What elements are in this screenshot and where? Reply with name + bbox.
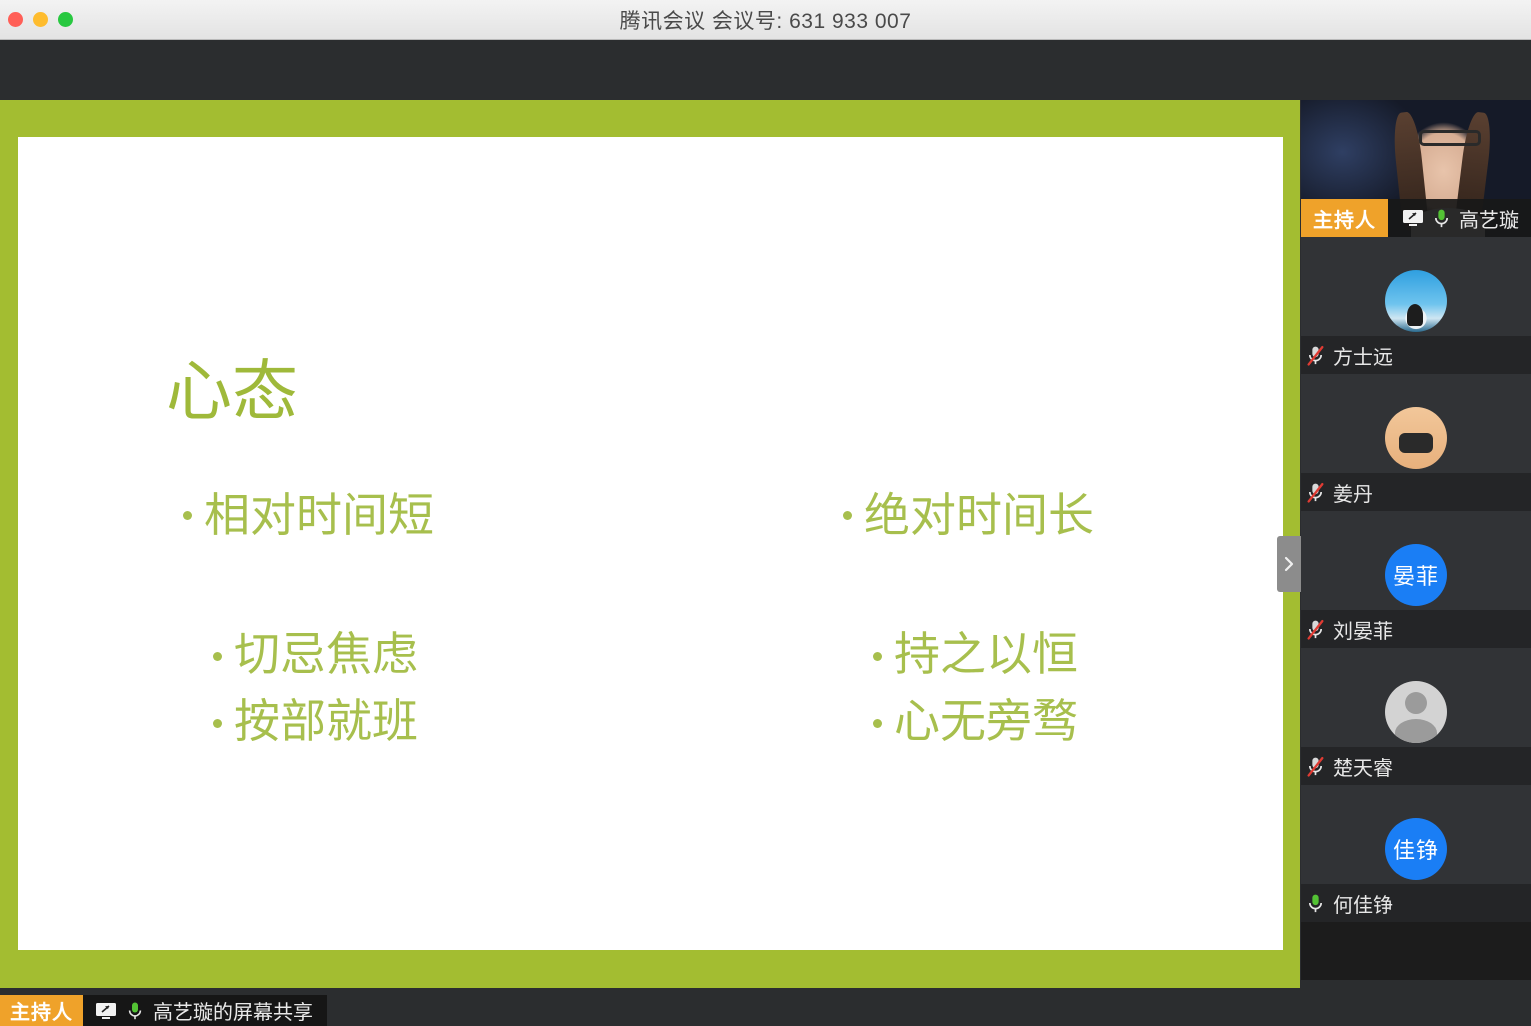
bullet-item: 绝对时间长 — [843, 489, 1363, 542]
bullet-dot-icon — [873, 719, 882, 728]
bullet-item: 切忌焦虑 — [213, 628, 703, 681]
chevron-right-icon — [1283, 554, 1295, 574]
avatar: 佳铮 — [1385, 818, 1447, 880]
avatar — [1385, 681, 1447, 743]
bullet-dot-icon — [213, 719, 222, 728]
bullet-text: 绝对时间长 — [864, 489, 1094, 542]
microphone-muted-icon — [1307, 482, 1324, 503]
minimize-icon[interactable] — [33, 12, 48, 27]
presentation-slide: 心态 相对时间短 切忌焦虑 按部就班 — [18, 137, 1283, 950]
slide-subbullets-right: 持之以恒 心无旁骛 — [873, 628, 1363, 748]
bullet-item: 心无旁骛 — [873, 695, 1363, 748]
microphone-muted-icon — [1307, 345, 1324, 366]
participant-tile[interactable]: 佳铮 何佳铮 — [1301, 785, 1531, 922]
bullet-item: 相对时间短 — [183, 489, 703, 542]
participant-tile[interactable]: 晏菲 刘晏菲 — [1301, 511, 1531, 648]
participant-tile[interactable]: 方士远 — [1301, 237, 1531, 374]
participant-label-bar: 主持人 高艺璇 — [1301, 199, 1531, 237]
bullet-dot-icon — [843, 511, 852, 520]
traffic-lights — [8, 12, 73, 27]
bullet-dot-icon — [873, 652, 882, 661]
share-text: 高艺璇的屏幕共享 — [153, 996, 313, 1025]
slide-column-left: 相对时间短 切忌焦虑 按部就班 — [183, 489, 703, 762]
maximize-icon[interactable] — [58, 12, 73, 27]
window-title-bar: 腾讯会议 会议号: 631 933 007 — [0, 0, 1531, 40]
share-host-badge: 主持人 — [0, 995, 83, 1026]
bullet-dot-icon — [183, 511, 192, 520]
bullet-text: 持之以恒 — [894, 628, 1078, 681]
participant-name: 何佳铮 — [1333, 889, 1393, 918]
screen-share-icon — [1402, 209, 1424, 227]
participant-tile[interactable]: 主持人 高艺璇 — [1301, 100, 1531, 237]
bullet-item: 持之以恒 — [873, 628, 1363, 681]
screen-share-status-bar: 主持人 高艺璇的屏幕共享 — [0, 995, 327, 1026]
host-badge: 主持人 — [1301, 199, 1388, 237]
bullet-text: 切忌焦虑 — [234, 628, 418, 681]
bullet-item: 按部就班 — [213, 695, 703, 748]
microphone-muted-icon — [1307, 619, 1324, 640]
participant-name: 楚天睿 — [1333, 752, 1393, 781]
participant-label-bar: 刘晏菲 — [1301, 610, 1531, 648]
window-title: 腾讯会议 会议号: 631 933 007 — [0, 5, 1531, 35]
microphone-icon — [127, 1001, 143, 1021]
participant-name: 方士远 — [1333, 341, 1393, 370]
microphone-muted-icon — [1307, 756, 1324, 777]
shared-screen-stage: 心态 相对时间短 切忌焦虑 按部就班 — [0, 100, 1300, 988]
participants-rail[interactable]: 主持人 高艺璇 — [1301, 100, 1531, 980]
avatar: 晏菲 — [1385, 544, 1447, 606]
participant-label-bar: 楚天睿 — [1301, 747, 1531, 785]
avatar — [1385, 407, 1447, 469]
slide-column-right: 绝对时间长 持之以恒 心无旁骛 — [843, 489, 1363, 762]
bullet-dot-icon — [213, 652, 222, 661]
slide-subbullets-left: 切忌焦虑 按部就班 — [213, 628, 703, 748]
participant-name: 刘晏菲 — [1333, 615, 1393, 644]
participant-tile[interactable]: 姜丹 — [1301, 374, 1531, 511]
avatar — [1385, 270, 1447, 332]
collapse-participants-panel-button[interactable] — [1277, 536, 1301, 592]
participant-label-bar: 方士远 — [1301, 336, 1531, 374]
share-info: 高艺璇的屏幕共享 — [83, 995, 327, 1026]
participant-name: 姜丹 — [1333, 478, 1373, 507]
bullet-text: 心无旁骛 — [894, 695, 1078, 748]
slide-title: 心态 — [166, 359, 298, 425]
bullet-text: 按部就班 — [234, 695, 418, 748]
participant-name: 高艺璇 — [1459, 204, 1519, 233]
participant-label-bar: 姜丹 — [1301, 473, 1531, 511]
participant-tile[interactable]: 楚天睿 — [1301, 648, 1531, 785]
participant-label-bar: 何佳铮 — [1301, 884, 1531, 922]
meeting-window: 心态 相对时间短 切忌焦虑 按部就班 — [0, 40, 1531, 1026]
close-icon[interactable] — [8, 12, 23, 27]
microphone-unmuted-icon — [1433, 208, 1450, 229]
screen-share-icon — [95, 1002, 117, 1020]
bullet-text: 相对时间短 — [204, 489, 434, 542]
microphone-unmuted-icon — [1307, 893, 1324, 914]
